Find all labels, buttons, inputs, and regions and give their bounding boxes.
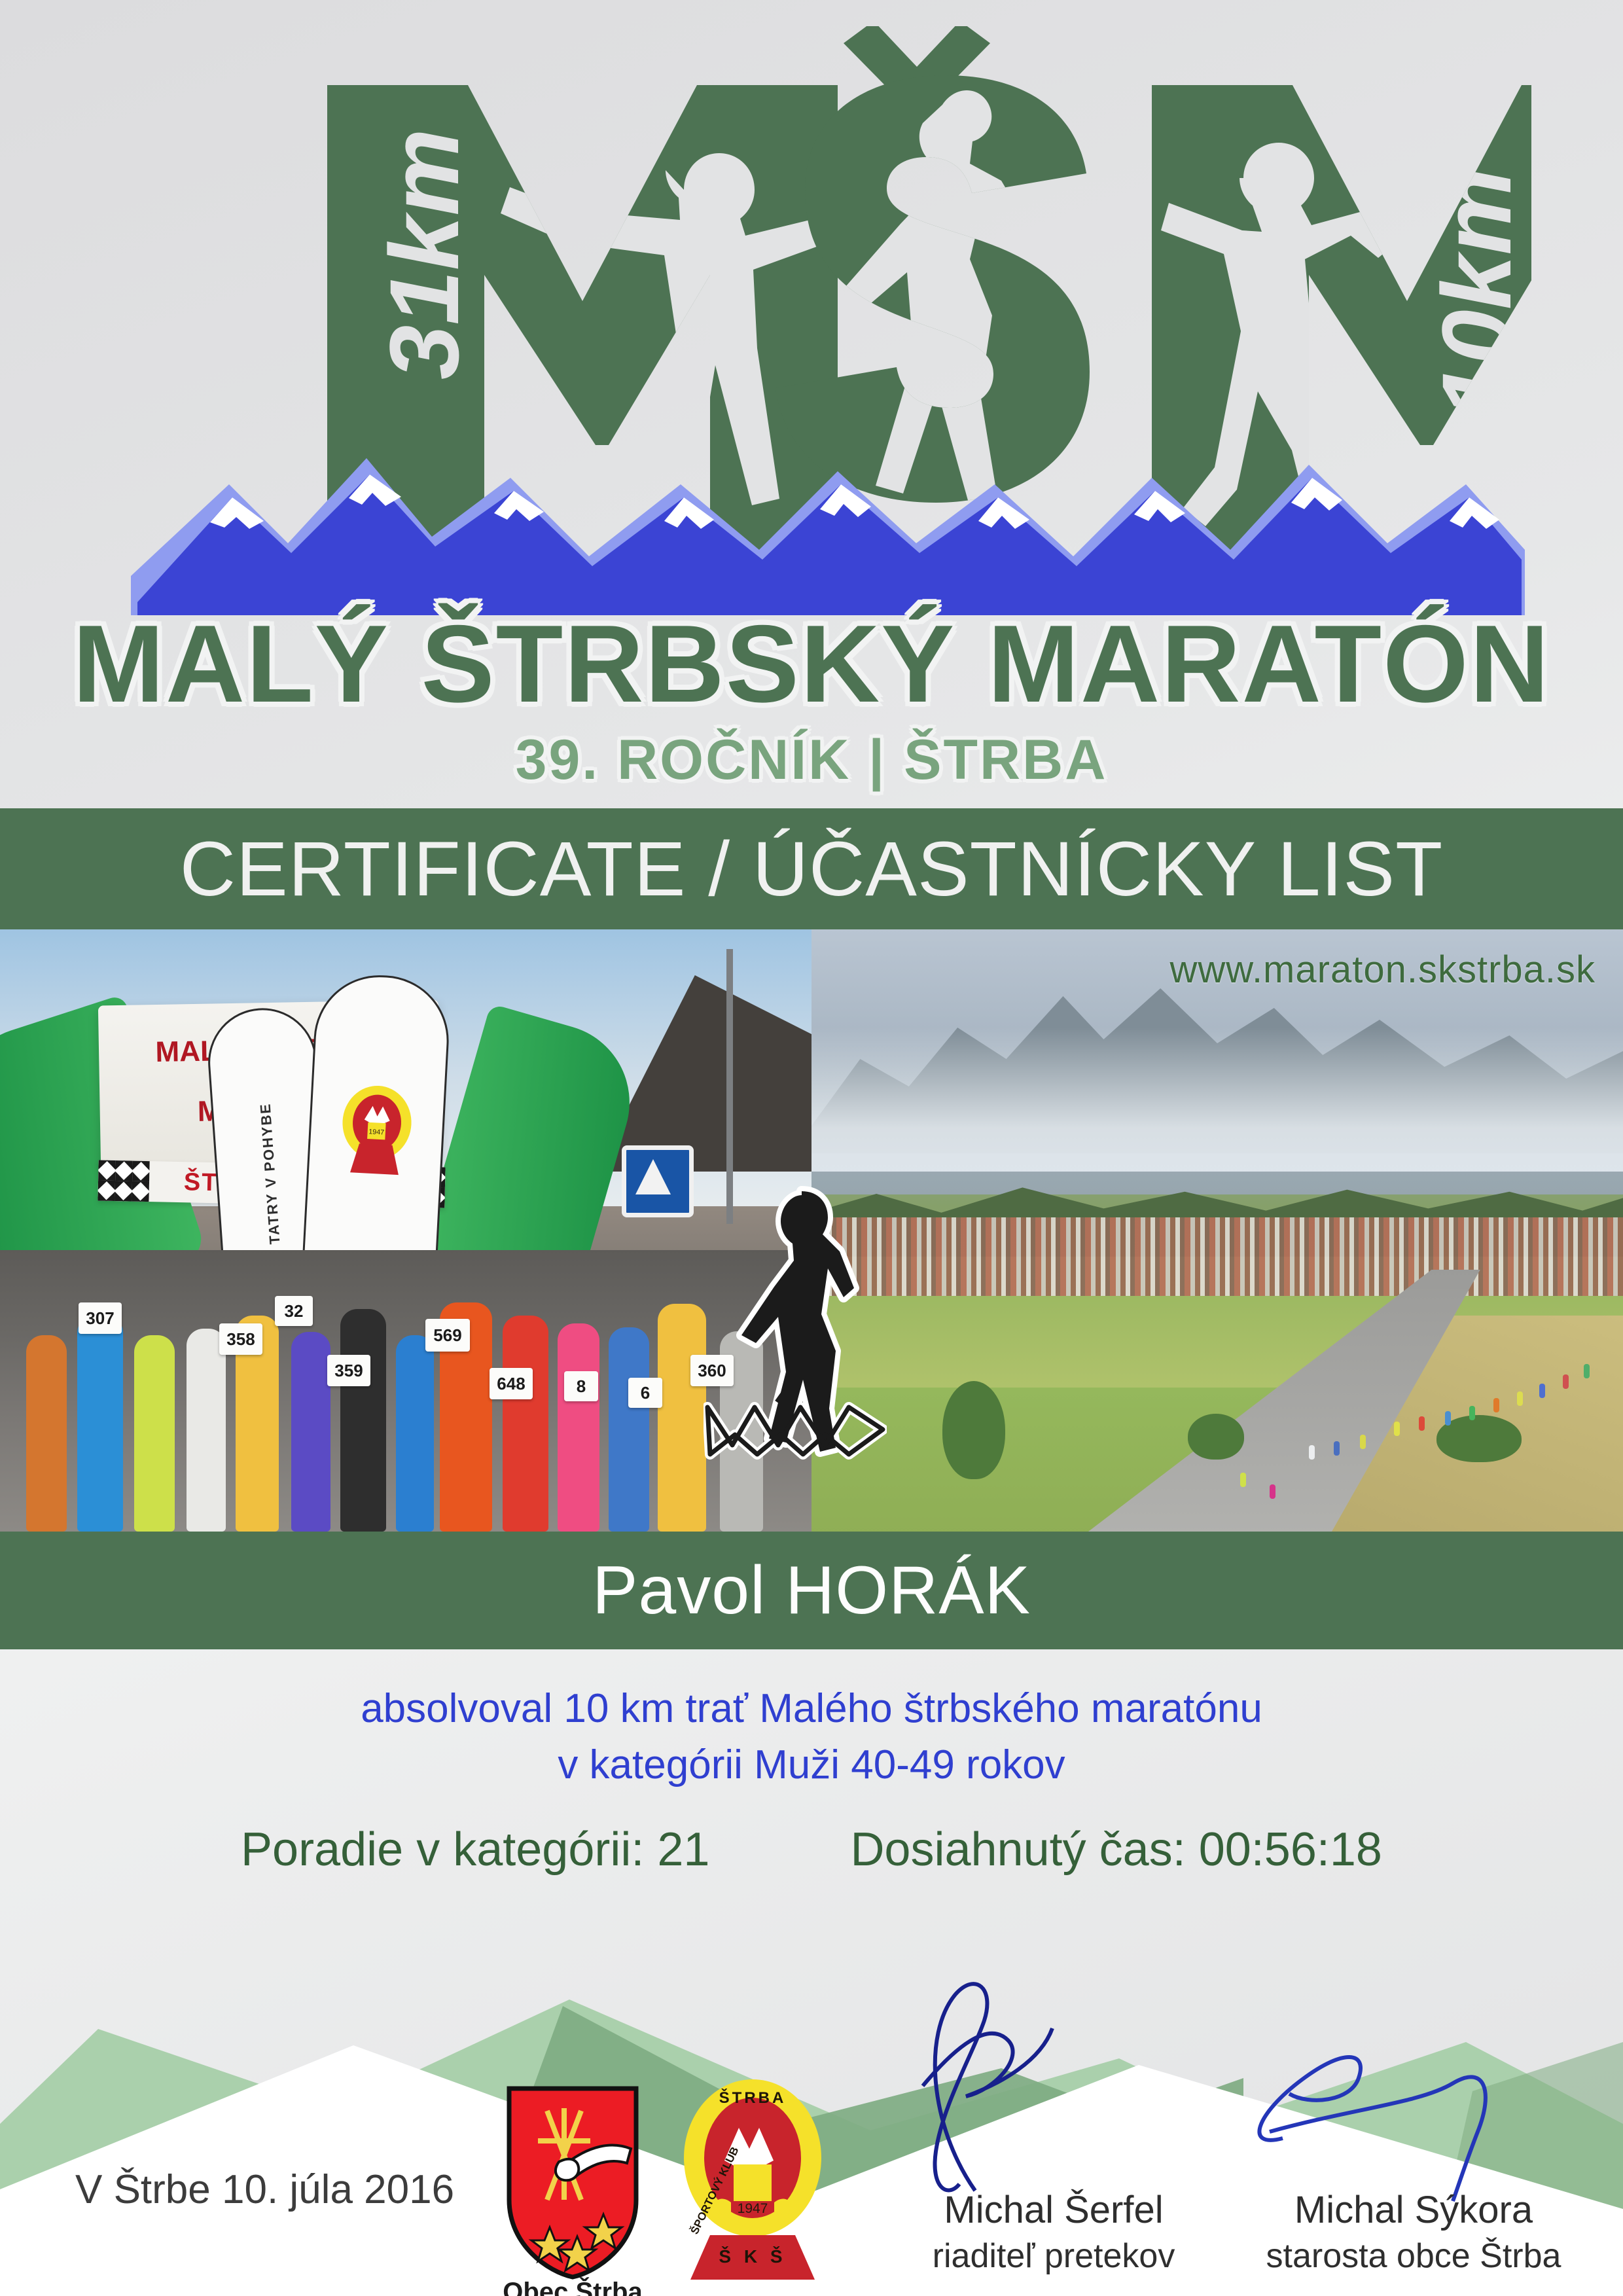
results-row: Poradie v kategórii: 21 Dosiahnutý čas: …	[0, 1823, 1623, 1876]
bib-number: 358	[219, 1323, 262, 1355]
place-and-date: V Štrbe 10. júla 2016	[75, 2166, 454, 2213]
msm-logo-svg: 31km	[92, 26, 1531, 615]
checker-left-icon	[98, 1160, 149, 1202]
runner	[658, 1304, 706, 1532]
svg-text:1947: 1947	[368, 1128, 384, 1136]
pedestrian-crossing-sign-icon	[622, 1145, 694, 1217]
obec-strba-coat-of-arms-icon	[504, 2085, 641, 2281]
runner	[26, 1335, 67, 1532]
athlete-name: Pavol HORÁK	[592, 1552, 1031, 1630]
runner	[77, 1316, 123, 1532]
sks-club-logo-icon: 1947 ŠTRBA Š K Š ŠPORTOVÝ KLUB	[677, 2072, 828, 2281]
runner-crowd: 307 358 32 359 569 648 8 6 360	[0, 1250, 811, 1532]
start-line-photo: MALÝ ŠTRBSKÝ MARATÓN ŠTART - CIEĽ TATRY …	[0, 929, 811, 1532]
bib-number: 648	[490, 1368, 533, 1399]
event-title-block: MALÝ ŠTRBSKÝ MARATÓN 39. ROČNÍK | ŠTRBA	[0, 609, 1623, 793]
runner	[558, 1323, 599, 1532]
certificate-heading-bar: CERTIFICATE / ÚČASTNÍCKY LIST	[0, 808, 1623, 929]
hero-section: 31km	[0, 0, 1623, 808]
signature-block-mayor: Michal Sýkora starosta obce Štrba	[1204, 2045, 1623, 2296]
bib-number: 307	[79, 1302, 122, 1334]
runner	[187, 1329, 226, 1532]
cloud-haze	[811, 1028, 1623, 1172]
certificate-heading: CERTIFICATE / ÚČASTNÍCKY LIST	[180, 825, 1443, 914]
signature-name: Michal Sýkora	[1204, 2188, 1623, 2232]
distant-runner	[1270, 1484, 1275, 1499]
distant-runner	[1309, 1445, 1315, 1460]
village-rooftops	[811, 1217, 1623, 1306]
distant-runner	[1493, 1398, 1499, 1412]
bib-number: 8	[564, 1371, 598, 1401]
distant-runner	[1517, 1391, 1523, 1406]
msm-logo: 31km	[0, 26, 1623, 615]
bib-number: 32	[275, 1296, 313, 1326]
footer: V Štrbe 10. júla 2016 Obec Štrba	[0, 2045, 1623, 2296]
bib-number: 569	[425, 1319, 470, 1352]
signature-mark	[1204, 1968, 1623, 2204]
bib-number: 6	[628, 1378, 662, 1408]
category-rank: Poradie v kategórii: 21	[241, 1823, 709, 1876]
distant-runner	[1394, 1422, 1400, 1436]
website-url: www.maraton.skstrba.sk	[1169, 948, 1596, 992]
crest-caption: Obec Štrba	[484, 2278, 661, 2296]
signature-name: Michal Šerfel	[844, 2188, 1263, 2232]
distance-left-label: 31km	[369, 128, 479, 380]
logo-letter-m-right: 10km	[1152, 85, 1531, 565]
runner	[609, 1327, 649, 1532]
statement-line2: v kategórii Muži 40-49 rokov	[0, 1737, 1623, 1793]
distant-runner	[1334, 1441, 1340, 1456]
distant-runner	[1584, 1364, 1590, 1378]
athlete-name-bar: Pavol HORÁK	[0, 1532, 1623, 1649]
event-title: MALÝ ŠTRBSKÝ MARATÓN	[0, 609, 1623, 719]
club-year: 1947	[738, 2201, 768, 2216]
signature-role: starosta obce Štrba	[1204, 2236, 1623, 2276]
distant-runner	[1469, 1406, 1475, 1420]
bib-number: 359	[327, 1355, 370, 1386]
certificate-page: 31km	[0, 0, 1623, 2296]
finish-time: Dosiahnutý čas: 00:56:18	[850, 1823, 1382, 1876]
tree	[1188, 1414, 1244, 1460]
distant-runner	[1539, 1384, 1545, 1398]
distant-runner	[1445, 1411, 1451, 1426]
beach-flag-tatry-text: TATRY V POHYBE	[257, 1102, 283, 1245]
logo-letter-m-left: 31km	[327, 85, 883, 556]
runner	[340, 1309, 386, 1532]
signature-role: riaditeľ pretekov	[844, 2236, 1263, 2276]
runner	[134, 1335, 175, 1532]
club-bottom-text: Š K Š	[719, 2246, 786, 2267]
course-landscape-photo: www.maraton.skstrba.sk	[811, 929, 1623, 1532]
distant-runner	[1563, 1374, 1569, 1389]
event-subtitle: 39. ROČNÍK | ŠTRBA	[0, 728, 1623, 793]
statement-line1: absolvoval 10 km trať Malého štrbského m…	[0, 1681, 1623, 1737]
club-top-text: ŠTRBA	[719, 2089, 787, 2107]
distant-runner	[1240, 1473, 1246, 1487]
signature-block-director: Michal Šerfel riaditeľ pretekov	[844, 2045, 1263, 2296]
signature-mark	[844, 1968, 1263, 2204]
distance-right-label: 10km	[1421, 168, 1531, 419]
certificate-body: absolvoval 10 km trať Malého štrbského m…	[0, 1649, 1623, 1957]
runner	[291, 1332, 330, 1532]
distant-runner	[1360, 1435, 1366, 1449]
statement: absolvoval 10 km trať Malého štrbského m…	[0, 1681, 1623, 1793]
sks-flag-badge-icon: 1947	[336, 1081, 418, 1181]
runner	[396, 1335, 434, 1532]
distant-runner	[1419, 1416, 1425, 1431]
tree	[942, 1381, 1005, 1479]
runner	[503, 1316, 548, 1532]
msm-runner-emblem-icon	[704, 1172, 887, 1473]
